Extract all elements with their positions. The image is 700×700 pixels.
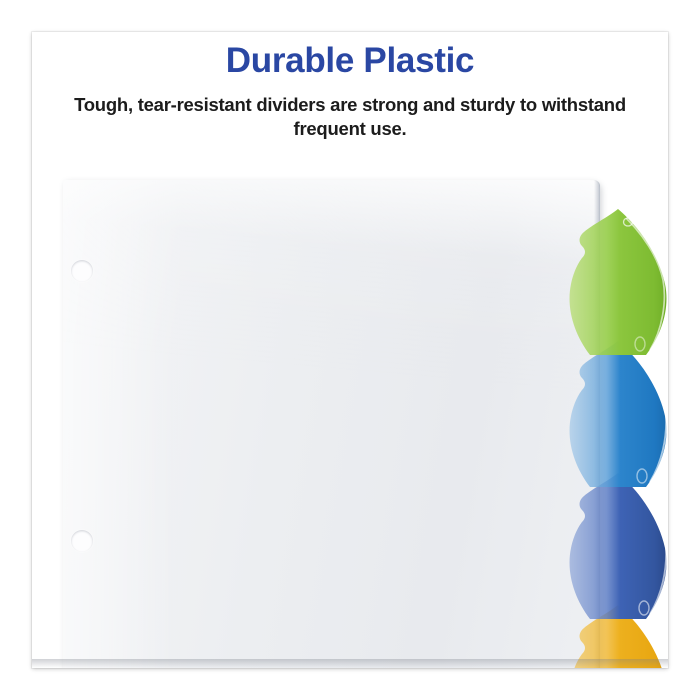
divider-sheet: [63, 180, 600, 668]
punch-hole-bottom: [71, 530, 93, 552]
screenshot-root: Durable Plastic Tough, tear-resistant di…: [0, 0, 700, 700]
page-title: Durable Plastic: [32, 42, 668, 81]
sheet-right-edge: [594, 180, 600, 668]
punch-hole-top: [71, 260, 93, 282]
sheet-sheen-overlay: [63, 180, 600, 668]
headline-block: Durable Plastic Tough, tear-resistant di…: [32, 42, 668, 142]
page-subtitle: Tough, tear-resistant dividers are stron…: [60, 93, 640, 142]
product-image-card: Durable Plastic Tough, tear-resistant di…: [32, 32, 668, 668]
